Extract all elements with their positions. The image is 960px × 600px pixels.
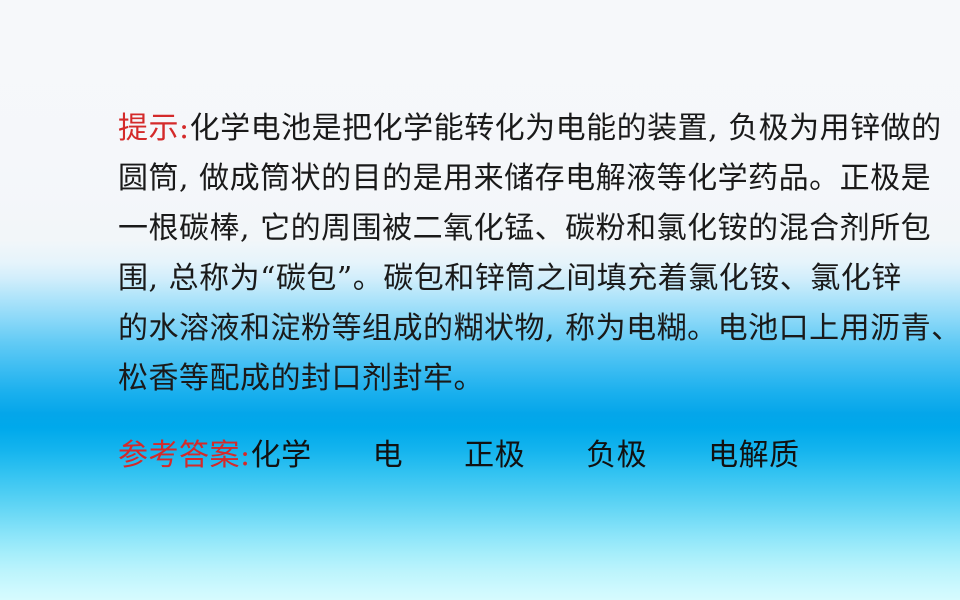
reference-answer-block: 参考答案:化学 电 正极 负极 电解质 <box>118 434 800 478</box>
hint-line-1: 提示:化学电池是把化学能转化为电能的装置, 负极为用锌做的 <box>118 104 918 154</box>
hint-line-6: 松香等配成的封口剂封牢。 <box>118 354 918 404</box>
hint-line-5: 的水溶液和淀粉等组成的糊状物, 称为电糊。电池口上用沥青、 <box>118 304 918 354</box>
hint-label: 提示: <box>118 111 190 146</box>
hint-line-1-text: 化学电池是把化学能转化为电能的装置, 负极为用锌做的 <box>190 111 942 146</box>
hint-line-4: 围, 总称为“碳包”。碳包和锌筒之间填充着氯化铵、氯化锌 <box>118 254 918 304</box>
answer-values: 化学 电 正极 负极 电解质 <box>251 438 800 473</box>
hint-line-3: 一根碳棒, 它的周围被二氧化锰、碳粉和氯化铵的混合剂所包 <box>118 204 918 254</box>
hint-block: 提示:化学电池是把化学能转化为电能的装置, 负极为用锌做的 圆筒, 做成筒状的目… <box>118 104 918 404</box>
answer-label: 参考答案: <box>118 438 251 473</box>
hint-line-2: 圆筒, 做成筒状的目的是用来储存电解液等化学药品。正极是 <box>118 154 918 204</box>
slide-canvas: 提示:化学电池是把化学能转化为电能的装置, 负极为用锌做的 圆筒, 做成筒状的目… <box>0 0 960 600</box>
